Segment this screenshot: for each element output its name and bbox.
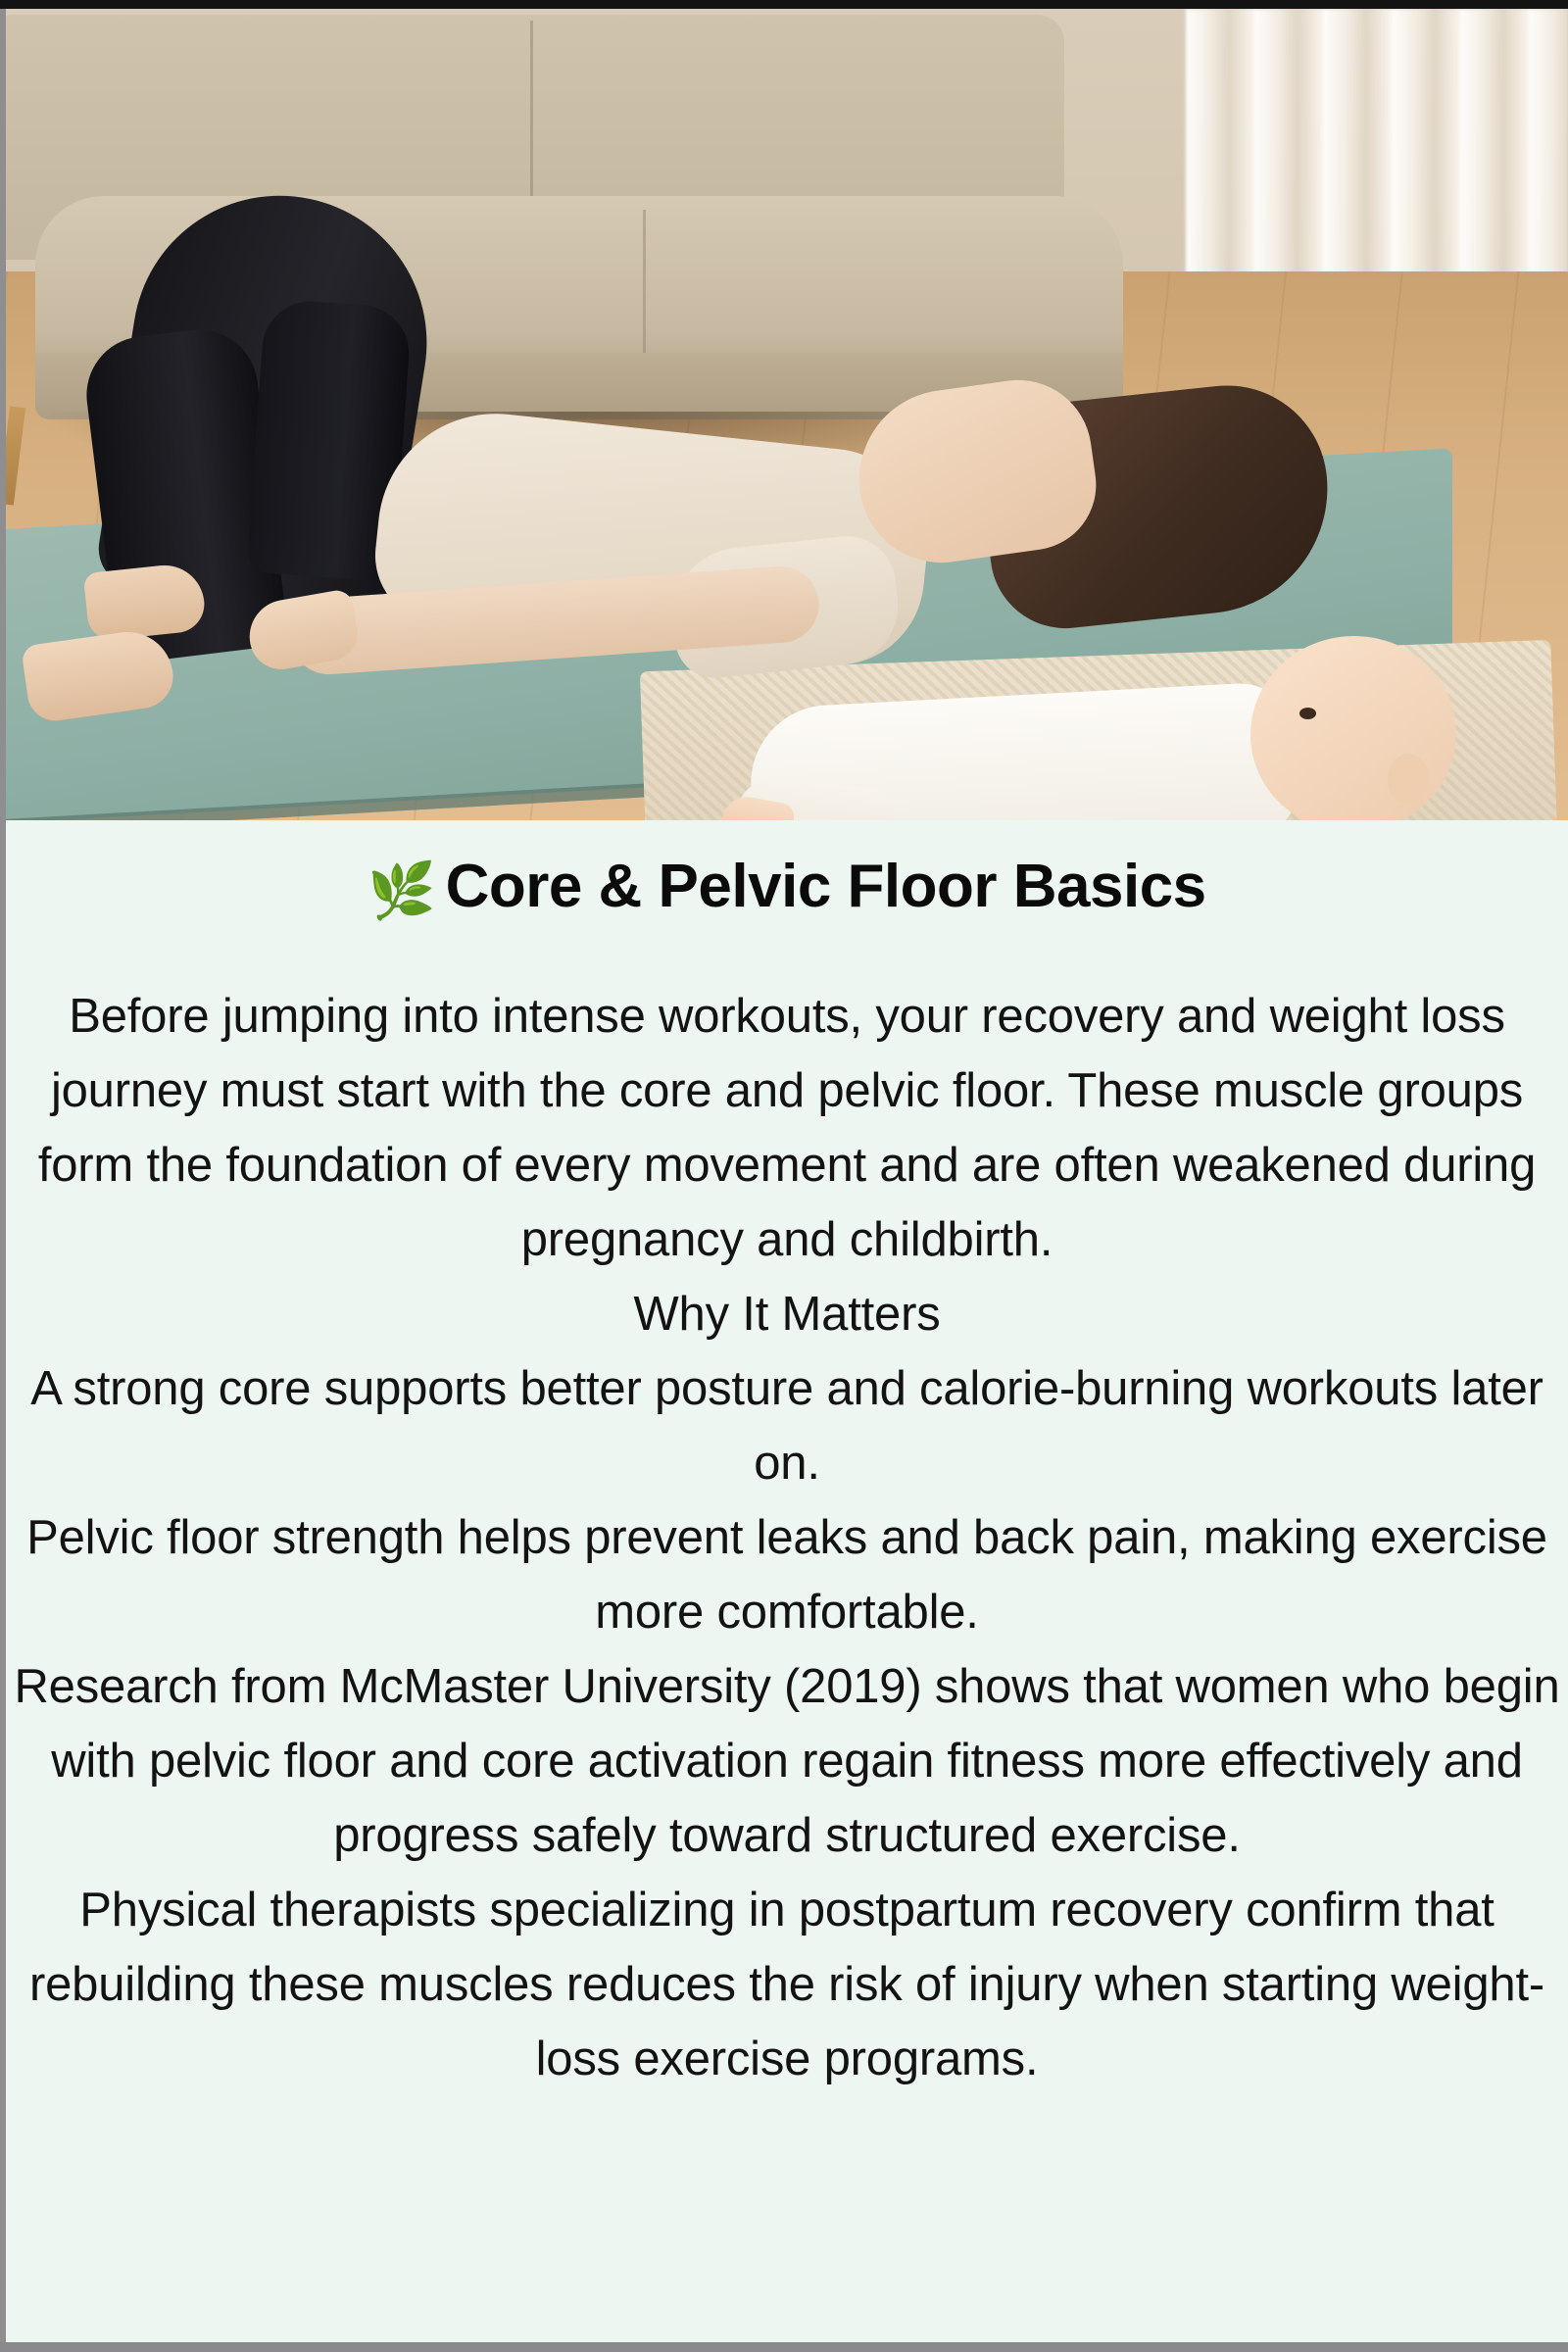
paragraph-pelvic-benefit: Pelvic floor strength helps prevent leak… [10,1500,1564,1649]
frame-edge-left [0,9,6,2352]
hero-image [6,9,1568,820]
herb-icon: 🌿 [367,859,435,921]
article-body: Before jumping into intense workouts, yo… [6,979,1568,2096]
paragraph-why-it-matters: Why It Matters [10,1277,1564,1351]
page-title-text: Core & Pelvic Floor Basics [446,853,1206,920]
paragraph-therapists: Physical therapists specializing in post… [10,1873,1564,2096]
screenshot-root: 🌿Core & Pelvic Floor Basics Before jumpi… [0,0,1568,2352]
baby-ear [1388,754,1429,805]
page-title: 🌿Core & Pelvic Floor Basics [6,853,1568,922]
paragraph-research: Research from McMaster University (2019)… [10,1649,1564,1873]
browser-chrome-bar [0,0,1568,9]
paragraph-intro: Before jumping into intense workouts, yo… [10,979,1564,1277]
frame-edge-bottom [0,2342,1568,2352]
article-card: 🌿Core & Pelvic Floor Basics Before jumpi… [6,820,1568,2342]
baby-eye [1299,708,1316,719]
paragraph-core-benefit: A strong core supports better posture an… [10,1351,1564,1500]
